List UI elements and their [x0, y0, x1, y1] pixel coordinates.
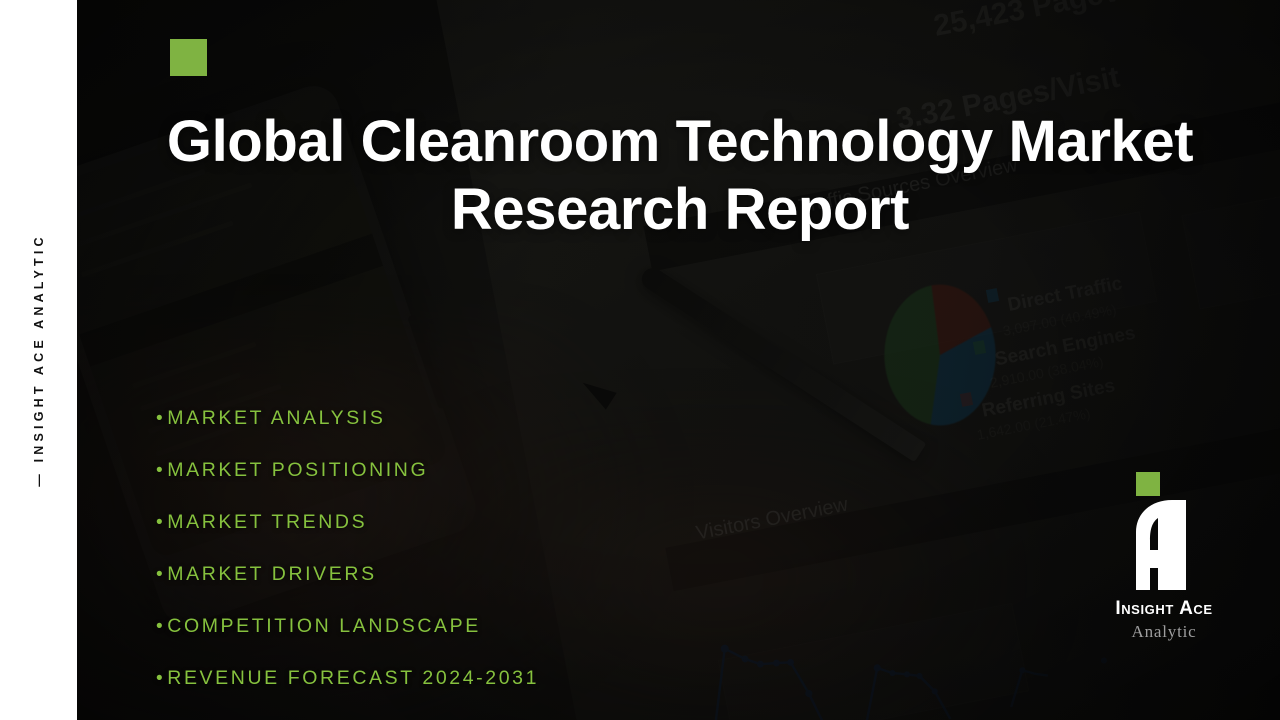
bullet-dot-icon: •	[156, 617, 165, 636]
logo-company-subtitle: Analytic	[1078, 622, 1250, 642]
list-item-label: REVENUE FORECAST 2024-2031	[167, 667, 539, 690]
logo-mark	[1114, 472, 1214, 590]
accent-square	[170, 39, 207, 76]
list-item-label: MARKET TRENDS	[167, 511, 367, 534]
list-item: • MARKET POSITIONING	[156, 444, 539, 496]
company-logo: Insight Ace Analytic	[1078, 472, 1250, 650]
presentation-slide: 25,423 Pageviews 3.32 Pages/Visit Traffi…	[0, 0, 1280, 720]
left-sidebar-rail: — INSIGHT ACE ANALYTIC	[0, 0, 77, 720]
logo-a-letter-icon	[1114, 498, 1214, 590]
list-item-label: MARKET DRIVERS	[167, 563, 376, 586]
bullet-dot-icon: •	[156, 669, 165, 688]
list-item-label: COMPETITION LANDSCAPE	[167, 615, 481, 638]
topic-list: • MARKET ANALYSIS • MARKET POSITIONING •…	[156, 392, 539, 704]
list-item: • REVENUE FORECAST 2024-2031	[156, 652, 539, 704]
list-item-label: MARKET POSITIONING	[167, 459, 428, 482]
list-item: • MARKET TRENDS	[156, 496, 539, 548]
list-item: • COMPETITION LANDSCAPE	[156, 600, 539, 652]
logo-company-name: Insight Ace	[1078, 598, 1250, 620]
bullet-dot-icon: •	[156, 409, 165, 428]
vertical-brand-text: — INSIGHT ACE ANALYTIC	[32, 233, 46, 487]
logo-accent-square-icon	[1136, 472, 1160, 496]
page-title: Global Cleanroom Technology Market Resea…	[100, 108, 1260, 244]
bullet-dot-icon: •	[156, 565, 165, 584]
list-item: • MARKET ANALYSIS	[156, 392, 539, 444]
bullet-dot-icon: •	[156, 513, 165, 532]
bullet-dot-icon: •	[156, 461, 165, 480]
list-item: • MARKET DRIVERS	[156, 548, 539, 600]
list-item-label: MARKET ANALYSIS	[167, 407, 385, 430]
